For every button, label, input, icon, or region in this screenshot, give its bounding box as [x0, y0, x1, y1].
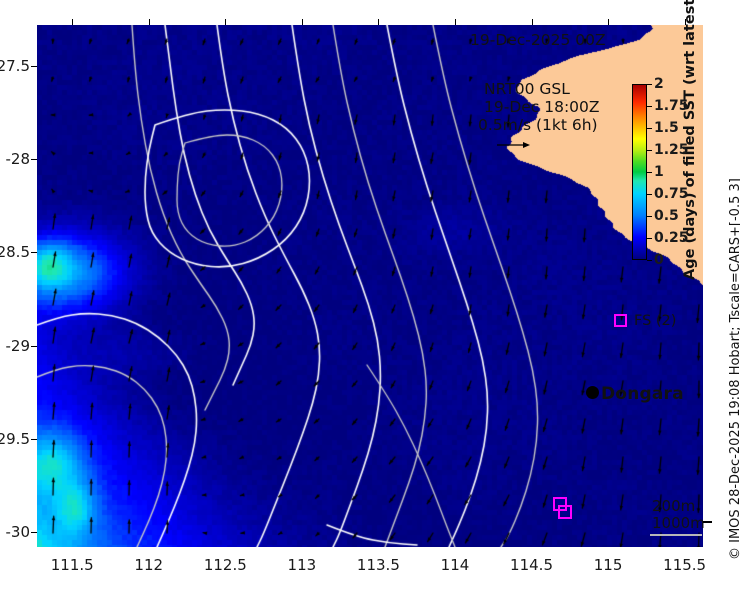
- x-axis-tick: [532, 19, 533, 25]
- y-axis-tick-label: -28: [6, 150, 31, 168]
- x-axis-tick: [685, 19, 686, 25]
- place-label-dongara: Dongara: [601, 384, 684, 404]
- colorbar-tick: [647, 84, 652, 85]
- x-axis-tick-label: 111.5: [51, 556, 94, 574]
- colorbar: [632, 84, 647, 260]
- colorbar-tick-label: 1.25: [654, 142, 689, 158]
- x-axis-tick-label: 114: [441, 556, 470, 574]
- y-axis-tick: [31, 252, 37, 253]
- colorbar-tick: [647, 238, 652, 239]
- y-axis-tick-label: -28.5: [0, 243, 30, 261]
- x-axis-tick: [455, 19, 456, 25]
- x-axis-tick-label: 113.5: [357, 556, 400, 574]
- y-axis-tick-label: -29: [6, 337, 31, 355]
- colorbar-tick: [647, 128, 652, 129]
- colorbar-tick: [647, 216, 652, 217]
- colorbar-tick: [647, 260, 652, 261]
- y-axis-tick: [31, 66, 37, 67]
- x-axis-tick-label: 115: [594, 556, 623, 574]
- colorbar-tick: [647, 172, 652, 173]
- colorbar-tick-label: 1: [654, 164, 664, 180]
- sst-age-map[interactable]: [37, 25, 703, 547]
- x-axis-tick: [225, 19, 226, 25]
- x-axis-tick: [72, 19, 73, 25]
- y-axis-tick: [31, 439, 37, 440]
- y-axis-tick: [31, 532, 37, 533]
- credit-text: © IMOS 28-Dec-2025 19:08 Hobart; Tscale=…: [728, 178, 740, 560]
- y-axis-tick-label: -29.5: [0, 430, 30, 448]
- right-arrow-icon: [496, 140, 530, 150]
- station-legend-label: FS (2): [634, 313, 676, 329]
- velocity-scale-label: 0.5m/s (1kt 6h): [478, 116, 598, 134]
- x-axis-tick-label: 112: [134, 556, 163, 574]
- map-raster: [37, 25, 703, 547]
- model-name-label: NRT00 GSL: [484, 80, 570, 98]
- axis-tick: [703, 521, 712, 523]
- y-axis-tick: [31, 159, 37, 160]
- x-axis-tick: [149, 19, 150, 25]
- depth-contour-sample-line: [650, 534, 702, 536]
- date-stamp: 19-Dec-2025 00Z: [470, 31, 606, 49]
- x-axis-tick-label: 114.5: [510, 556, 553, 574]
- figure-root: 19-Dec-2025 00Z NRT00 GSL 19-Dec 18:00Z …: [0, 0, 740, 592]
- x-axis-tick-label: 112.5: [204, 556, 247, 574]
- depth-contour-label-1000m: 1000m: [652, 514, 705, 532]
- colorbar-tick: [647, 106, 652, 107]
- colorbar-tick-label: 0.5: [654, 208, 679, 224]
- colorbar-tick-label: 0: [654, 252, 664, 268]
- colorbar-tick-label: 0.75: [654, 186, 689, 202]
- colorbar-tick: [647, 194, 652, 195]
- x-axis-tick: [302, 19, 303, 25]
- colorbar-tick-label: 1.75: [654, 98, 689, 114]
- y-axis-tick-label: -30: [6, 523, 31, 541]
- x-axis-tick-label: 113: [288, 556, 317, 574]
- black-dot-icon: [586, 386, 599, 399]
- colorbar-tick-label: 0.25: [654, 230, 689, 246]
- x-axis-tick: [378, 19, 379, 25]
- magenta-square-icon: [614, 314, 627, 327]
- y-axis-tick: [31, 346, 37, 347]
- x-axis-tick: [608, 19, 609, 25]
- station-marker[interactable]: [558, 505, 572, 519]
- depth-contour-label-200m: 200m: [652, 497, 695, 515]
- colorbar-tick-label: 2: [654, 76, 664, 92]
- x-axis-tick-label: 115.5: [663, 556, 706, 574]
- colorbar-tick: [647, 150, 652, 151]
- y-axis-tick-label: -27.5: [0, 57, 30, 75]
- model-time-label: 19-Dec 18:00Z: [484, 98, 600, 116]
- colorbar-tick-label: 1.5: [654, 120, 679, 136]
